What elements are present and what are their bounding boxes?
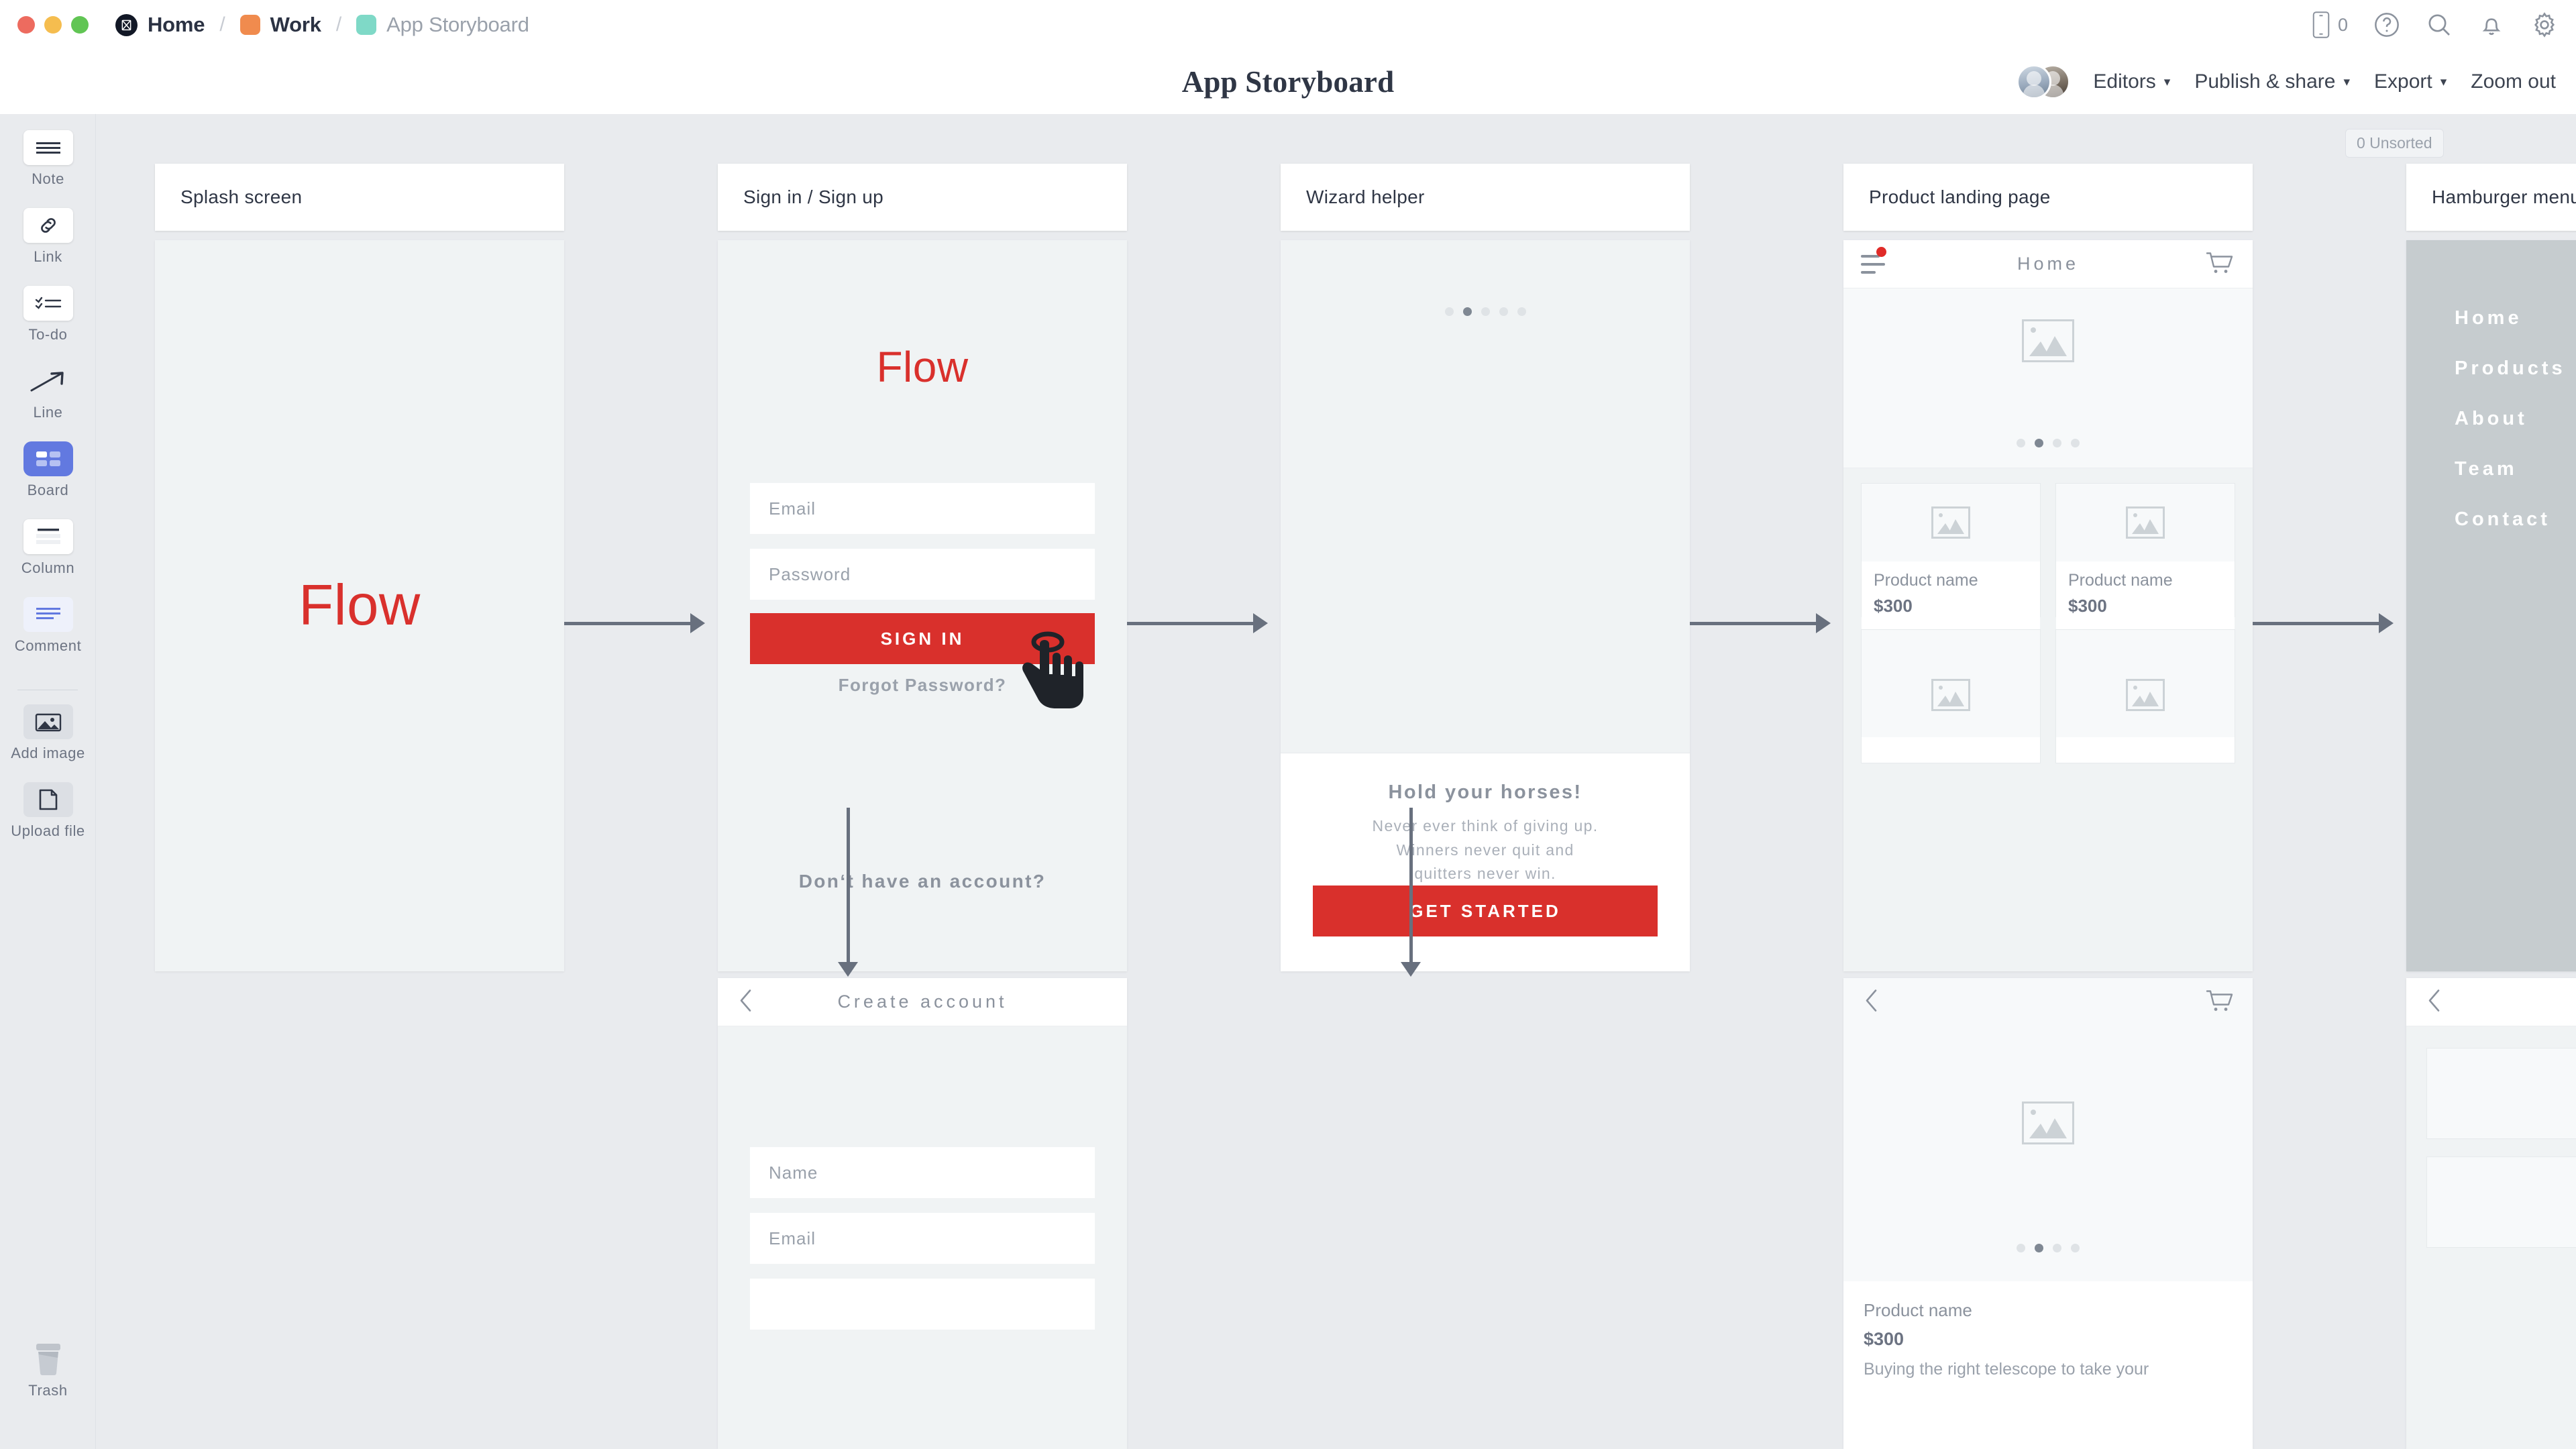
editors-menu[interactable]: Editors ▾: [2093, 70, 2170, 93]
frame-splash-screen[interactable]: Splash screen Flow: [155, 164, 564, 971]
sidebar-label-board: Board: [28, 482, 69, 499]
image-placeholder-icon: [1931, 679, 1970, 711]
product-detail-app-bar: [1843, 978, 2253, 1026]
sidebar-label-upload-file: Upload file: [11, 822, 85, 840]
gear-icon[interactable]: [2530, 11, 2559, 39]
search-icon[interactable]: [2426, 11, 2453, 38]
frame-hamburger-menu[interactable]: Hamburger menu Home Products About Team …: [2406, 164, 2576, 971]
export-menu[interactable]: Export ▾: [2374, 70, 2447, 93]
product-card[interactable]: [1861, 629, 2041, 763]
mobile-preview-count: 0: [2338, 15, 2348, 36]
product-card[interactable]: Product name $300: [1861, 483, 2041, 617]
frame-product-landing[interactable]: Product landing page Home: [1843, 164, 2253, 971]
pager-dot-active[interactable]: [2035, 1244, 2043, 1252]
splash-logo-text: Flow: [299, 573, 420, 639]
connector-landing-to-detail: [1409, 808, 1413, 962]
menu-link-team[interactable]: Team: [2455, 458, 2566, 480]
pager-dot[interactable]: [1499, 307, 1508, 316]
sidebar-label-note: Note: [32, 170, 64, 188]
breadcrumb-separator-1: /: [219, 13, 225, 36]
bell-icon[interactable]: [2478, 11, 2505, 38]
product-detail-screen-preview[interactable]: Product name $300 Buying the right teles…: [1843, 978, 2253, 1449]
upload-file-icon: [23, 782, 73, 817]
pager-dot[interactable]: [2017, 439, 2025, 447]
image-placeholder-icon: [2126, 679, 2165, 711]
comment-icon: [23, 597, 73, 632]
topbar-actions: 0: [2311, 0, 2559, 50]
wizard-body-line-3: quitters never win.: [1281, 862, 1690, 886]
chevron-down-icon: ▾: [2343, 74, 2350, 90]
image-placeholder-icon: [2126, 506, 2165, 539]
product-image: [2056, 484, 2235, 561]
frame-title-card[interactable]: Product landing page: [1843, 164, 2253, 231]
email-placeholder: Email: [769, 498, 816, 519]
product-meta: Product name $300: [1862, 561, 2040, 630]
link-icon: [23, 208, 73, 243]
sidebar-label-trash: Trash: [28, 1382, 67, 1399]
pager-dot[interactable]: [1481, 307, 1490, 316]
zoom-out-label: Zoom out: [2471, 70, 2556, 93]
product-name: Product name: [1864, 1300, 2233, 1321]
pager-dot[interactable]: [2017, 1244, 2025, 1252]
publish-share-label: Publish & share: [2194, 70, 2335, 93]
wizard-body-line-2: Winners never quit and: [1281, 839, 1690, 863]
frame-create-account[interactable]: Create account Name Email: [718, 978, 1127, 1449]
sidebar-label-comment: Comment: [15, 637, 82, 655]
orange-square-icon: [240, 15, 260, 35]
hero-carousel[interactable]: [1843, 288, 2253, 468]
product-name: Product name: [2068, 571, 2222, 590]
todo-icon: [23, 286, 73, 321]
hamburger-screen-preview[interactable]: Home Products About Team Contact: [2406, 240, 2576, 971]
email-field[interactable]: Email: [750, 1213, 1095, 1264]
forgot-password-label: Forgot Password?: [839, 675, 1007, 695]
sign-in-button-label: SIGN IN: [881, 629, 965, 649]
mobile-preview-button[interactable]: 0: [2311, 10, 2348, 40]
close-window-button[interactable]: [17, 16, 35, 34]
shopping-cart-icon[interactable]: [2204, 249, 2235, 279]
zoom-out-button[interactable]: Zoom out: [2471, 70, 2556, 93]
image-placeholder-icon: [2022, 1102, 2074, 1144]
sidebar-label-todo: To-do: [28, 326, 67, 343]
chevron-left-icon[interactable]: [735, 986, 757, 1018]
wizard-footer-panel: Hold your horses! Never ever think of gi…: [1281, 753, 1690, 971]
connector-splash-to-signin: [564, 622, 690, 625]
chevron-left-icon[interactable]: [1861, 987, 1882, 1018]
chevron-left-icon[interactable]: [2424, 986, 2445, 1018]
image-placeholder-icon: [1931, 506, 1970, 539]
sidebar-label-add-image: Add image: [11, 745, 85, 762]
get-started-button[interactable]: GET STARTED: [1313, 885, 1658, 936]
breadcrumb-item-app-storyboard[interactable]: App Storyboard: [356, 13, 529, 37]
email-field[interactable]: Email: [750, 483, 1095, 534]
create-account-title: Create account: [837, 991, 1007, 1012]
sidebar-item-upload-file[interactable]: Upload file: [0, 782, 96, 840]
menu-link-about[interactable]: About: [2455, 408, 2566, 430]
breadcrumb-label-work: Work: [270, 13, 321, 37]
breadcrumb: Home / Work / App Storyboard: [115, 13, 529, 37]
connector-landing-to-hamburger: [2253, 622, 2379, 625]
signup-link[interactable]: Don‘t have an account?: [718, 871, 1127, 892]
connector-arrow: [690, 613, 705, 633]
frame-cart-partial[interactable]: C: [2406, 978, 2576, 1449]
avatar: [2017, 64, 2051, 99]
pager-dot[interactable]: [1517, 307, 1526, 316]
hamburger-menu-icon[interactable]: [1861, 255, 1885, 274]
chevron-down-icon: ▾: [2440, 74, 2447, 90]
sidebar-item-note[interactable]: Note: [0, 130, 96, 188]
app-logo-icon: [115, 14, 138, 36]
signin-logo-text: Flow: [876, 343, 968, 391]
board-toolbar: App Storyboard Editors ▾ Publish & share…: [0, 50, 2576, 114]
password-field[interactable]: Password: [750, 549, 1095, 600]
connector-wizard-to-landing: [1690, 622, 1816, 625]
hero-pager[interactable]: [1843, 439, 2253, 447]
frame-title-card[interactable]: Wizard helper: [1281, 164, 1690, 231]
menu-link-contact[interactable]: Contact: [2455, 508, 2566, 531]
product-price: $300: [1864, 1329, 2233, 1350]
landing-app-bar: Home: [1843, 240, 2253, 288]
password-placeholder: Password: [769, 564, 851, 585]
landing-screen-preview[interactable]: Home: [1843, 240, 2253, 971]
cart-line-item[interactable]: [2426, 1048, 2576, 1139]
board-toolbar-actions: Editors ▾ Publish & share ▾ Export ▾ Zoo…: [2017, 64, 2556, 99]
connector-arrow: [2379, 613, 2394, 633]
sidebar-item-board[interactable]: Board: [0, 441, 96, 499]
board-icon: [23, 441, 73, 476]
cart-app-bar: C: [2406, 978, 2576, 1026]
frame-title: Hamburger menu: [2432, 186, 2576, 208]
wizard-pager[interactable]: [1281, 307, 1690, 316]
frame-wizard-helper[interactable]: Wizard helper Hold your horses! Never ev…: [1281, 164, 1690, 971]
cart-line-item[interactable]: [2426, 1157, 2576, 1248]
note-icon: [23, 130, 73, 165]
sidebar-divider: [17, 690, 78, 690]
connector-signin-to-create-account: [847, 808, 850, 962]
sidebar-item-link[interactable]: Link: [0, 208, 96, 266]
pager-dot-active[interactable]: [1463, 307, 1472, 316]
splash-screen-preview[interactable]: Flow: [155, 240, 564, 971]
breadcrumb-label-home: Home: [148, 13, 205, 37]
pager-dot[interactable]: [1445, 307, 1454, 316]
name-placeholder: Name: [769, 1163, 818, 1183]
get-started-button-label: GET STARTED: [1409, 901, 1561, 922]
tools-sidebar: Note Link To-do Line: [0, 114, 96, 1449]
connector-arrow: [1816, 613, 1831, 633]
breadcrumb-item-home[interactable]: Home: [115, 13, 205, 37]
breadcrumb-item-work[interactable]: Work: [240, 13, 321, 37]
publish-share-menu[interactable]: Publish & share ▾: [2194, 70, 2350, 93]
image-placeholder-icon: [2022, 319, 2074, 362]
unsorted-badge[interactable]: 0 Unsorted: [2345, 129, 2444, 158]
product-name: Product name: [1874, 571, 2028, 590]
frame-sign-in[interactable]: Sign in / Sign up Flow Email Password SI…: [718, 164, 1127, 971]
title-bar: Home / Work / App Storyboard 0: [0, 0, 2576, 50]
wizard-body-line-1: Never ever think of giving up.: [1281, 814, 1690, 839]
pager-dot[interactable]: [2053, 1244, 2061, 1252]
frame-product-detail[interactable]: Product name $300 Buying the right teles…: [1843, 978, 2253, 1449]
sidebar-item-line[interactable]: Line: [0, 364, 96, 421]
product-image: [2056, 630, 2235, 737]
connector-arrow: [1401, 962, 1421, 977]
sidebar-item-comment[interactable]: Comment: [0, 597, 96, 655]
breadcrumb-separator-2: /: [336, 13, 341, 36]
frame-title: Wizard helper: [1306, 186, 1425, 208]
product-image: [1862, 630, 2040, 737]
sign-in-screen-preview[interactable]: Flow Email Password SIGN IN Forgot Passw…: [718, 240, 1127, 971]
frame-title-card[interactable]: Splash screen: [155, 164, 564, 231]
help-circle-icon[interactable]: [2373, 11, 2400, 38]
connector-arrow: [838, 962, 858, 977]
sidebar-label-link: Link: [34, 248, 62, 266]
breadcrumb-label-app-storyboard: App Storyboard: [386, 13, 529, 37]
product-price: $300: [2068, 596, 2222, 616]
connector-signin-to-wizard: [1127, 622, 1253, 625]
product-card[interactable]: [2055, 629, 2235, 763]
create-account-app-bar: Create account: [718, 978, 1127, 1026]
minimize-window-button[interactable]: [44, 16, 62, 34]
column-icon: [23, 519, 73, 554]
sidebar-item-column[interactable]: Column: [0, 519, 96, 577]
pager-dot[interactable]: [2071, 439, 2080, 447]
frame-title: Splash screen: [180, 186, 302, 208]
connector-arrow: [1253, 613, 1268, 633]
editor-avatars[interactable]: [2017, 64, 2069, 99]
teal-square-icon: [356, 15, 376, 35]
hamburger-menu-links: Home Products About Team Contact: [2455, 307, 2566, 531]
pager-dot[interactable]: [2071, 1244, 2080, 1252]
product-description: Buying the right telescope to take your: [1864, 1358, 2233, 1381]
email-placeholder: Email: [769, 1228, 816, 1249]
product-card[interactable]: Product name $300: [2055, 483, 2235, 617]
sidebar-item-trash[interactable]: Trash: [0, 1342, 96, 1399]
add-image-icon: [23, 704, 73, 739]
product-price: $300: [1874, 596, 2028, 616]
product-detail-info: Product name $300 Buying the right teles…: [1843, 1281, 2253, 1449]
product-meta: Product name $300: [2056, 561, 2235, 630]
trash-icon: [23, 1342, 73, 1377]
wizard-headline: Hold your horses!: [1281, 782, 1690, 804]
sidebar-item-add-image[interactable]: Add image: [0, 704, 96, 762]
pager-dot-active[interactable]: [2035, 439, 2043, 447]
wizard-screen-preview[interactable]: Hold your horses! Never ever think of gi…: [1281, 240, 1690, 971]
signup-link-label: Don‘t have an account?: [799, 871, 1046, 892]
frame-title: Product landing page: [1869, 186, 2051, 208]
menu-link-products[interactable]: Products: [2455, 358, 2566, 380]
board-canvas[interactable]: 0 Unsorted Splash screen Flow Sign in / …: [96, 114, 2576, 1449]
notification-dot: [1876, 247, 1886, 257]
window-controls[interactable]: [17, 16, 89, 34]
sidebar-label-line: Line: [34, 404, 63, 421]
export-label: Export: [2374, 70, 2432, 93]
create-account-screen-preview[interactable]: Create account Name Email: [718, 978, 1127, 1449]
detail-pager[interactable]: [1843, 1244, 2253, 1252]
cart-screen-preview[interactable]: C: [2406, 978, 2576, 1449]
shopping-cart-icon[interactable]: [2204, 987, 2235, 1018]
landing-app-bar-title: Home: [2017, 254, 2079, 274]
frame-title-card[interactable]: Sign in / Sign up: [718, 164, 1127, 231]
chevron-down-icon: ▾: [2164, 74, 2171, 90]
sidebar-label-column: Column: [21, 559, 74, 577]
frame-title: Sign in / Sign up: [743, 186, 883, 208]
password-field[interactable]: [750, 1279, 1095, 1330]
sidebar-item-todo[interactable]: To-do: [0, 286, 96, 343]
product-image: [1862, 484, 2040, 561]
pager-dot[interactable]: [2053, 439, 2061, 447]
frame-title-card[interactable]: Hamburger menu: [2406, 164, 2576, 231]
menu-link-home[interactable]: Home: [2455, 307, 2566, 329]
maximize-window-button[interactable]: [71, 16, 89, 34]
line-arrow-icon: [23, 364, 73, 398]
pointing-hand-cursor: [1020, 628, 1090, 715]
name-field[interactable]: Name: [750, 1147, 1095, 1198]
editors-label: Editors: [2093, 70, 2155, 93]
